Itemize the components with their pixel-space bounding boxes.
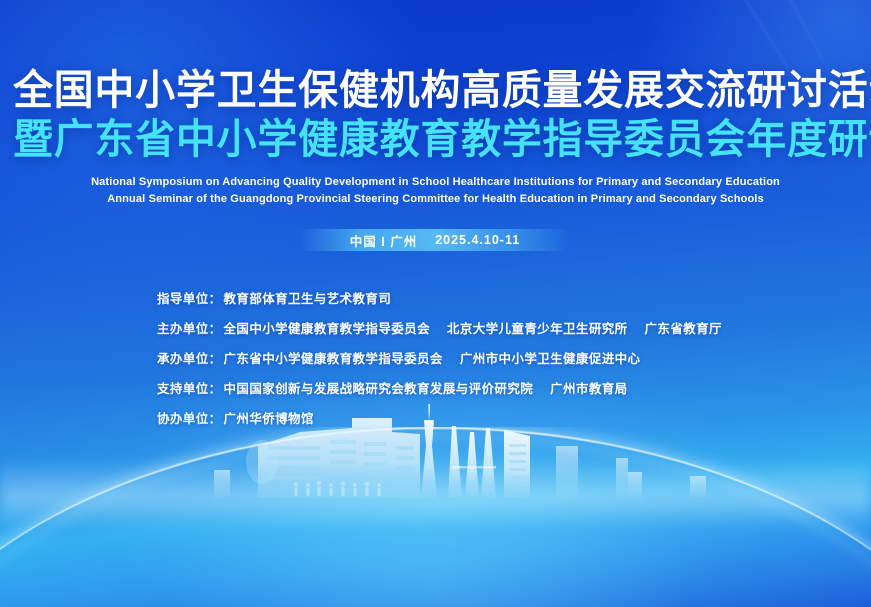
venue-bar: 中国 I 广州 2025.4.10-11 — [300, 229, 570, 251]
organizer-label: 主办单位： — [157, 318, 222, 337]
poster-title-line-2: 暨广东省中小学健康教育教学指导委员会年度研讨活动 — [13, 119, 858, 160]
organizer-list: 指导单位： 教育部体育卫生与艺术教育司 主办单位： 全国中小学健康教育教学指导委… — [157, 288, 722, 427]
organizer-value: 广州华侨博物馆 — [224, 408, 314, 427]
organizer-row: 指导单位： 教育部体育卫生与艺术教育司 — [157, 288, 722, 307]
organizer-value: 广州市中小学卫生健康促进中心 — [460, 348, 641, 367]
organizer-row: 主办单位： 全国中小学健康教育教学指导委员会 北京大学儿童青少年卫生研究所 广东… — [157, 318, 722, 337]
organizer-value: 全国中小学健康教育教学指导委员会 — [224, 318, 430, 337]
organizer-value: 广东省中小学健康教育教学指导委员会 — [224, 348, 443, 367]
subtitle-english-line-1: National Symposium on Advancing Quality … — [0, 174, 871, 191]
organizer-value: 中国国家创新与发展战略研究会教育发展与评价研究院 — [224, 378, 534, 397]
venue-date: 2025.4.10-11 — [435, 233, 520, 247]
headline-block: 全国中小学卫生保健机构高质量发展交流研讨活动 暨广东省中小学健康教育教学指导委员… — [0, 70, 871, 208]
poster-subtitle-english: National Symposium on Advancing Quality … — [0, 174, 871, 208]
organizer-value: 广东省教育厅 — [645, 318, 722, 337]
organizer-label: 指导单位： — [157, 288, 222, 307]
organizer-label: 协办单位： — [157, 408, 222, 427]
poster-title-line-1: 全国中小学卫生保健机构高质量发展交流研讨活动 — [13, 70, 858, 111]
organizer-row: 协办单位： 广州华侨博物馆 — [157, 408, 722, 427]
light-arc — [0, 427, 871, 607]
organizer-label: 承办单位： — [157, 348, 222, 367]
organizer-label: 支持单位： — [157, 378, 222, 397]
organizer-row: 支持单位： 中国国家创新与发展战略研究会教育发展与评价研究院 广州市教育局 — [157, 378, 722, 397]
organizer-value: 广州市教育局 — [550, 378, 627, 397]
organizer-row: 承办单位： 广东省中小学健康教育教学指导委员会 广州市中小学卫生健康促进中心 — [157, 348, 722, 367]
venue-location: 中国 I 广州 — [350, 231, 417, 250]
subtitle-english-line-2: Annual Seminar of the Guangdong Provinci… — [0, 191, 871, 208]
conference-poster: 全国中小学卫生保健机构高质量发展交流研讨活动 暨广东省中小学健康教育教学指导委员… — [0, 0, 871, 607]
organizer-value: 教育部体育卫生与艺术教育司 — [224, 288, 392, 307]
organizer-value: 北京大学儿童青少年卫生研究所 — [447, 318, 628, 337]
